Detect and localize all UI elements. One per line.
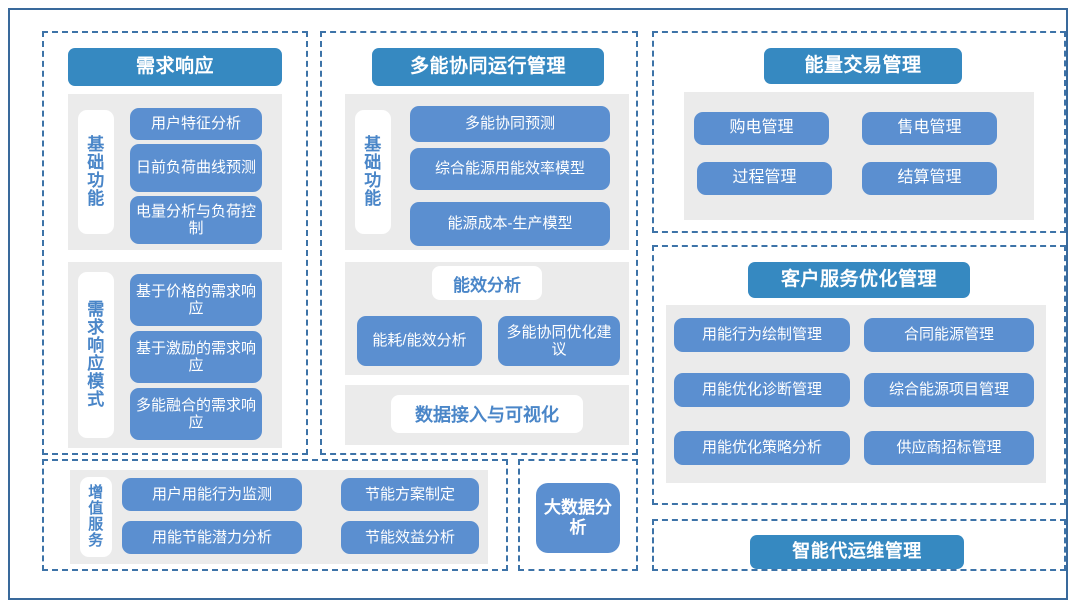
item-incentive-based-dr[interactable]: 基于激励的需求响应 [130,331,262,383]
header-intelligent-om-management[interactable]: 智能代运维管理 [750,535,964,569]
item-energy-optimization-diagnosis-management[interactable]: 用能优化诊断管理 [674,373,850,407]
item-contract-energy-management[interactable]: 合同能源管理 [864,318,1034,352]
item-energy-behavior-mapping-management[interactable]: 用能行为绘制管理 [674,318,850,352]
item-day-ahead-load-curve-forecast[interactable]: 日前负荷曲线预测 [130,144,262,192]
header-customer-service-optimization[interactable]: 客户服务优化管理 [748,262,970,298]
item-price-based-dr[interactable]: 基于价格的需求响应 [130,274,262,326]
header-energy-trading-management[interactable]: 能量交易管理 [764,48,962,84]
label-text: 基础功能 [364,136,383,208]
chip-data-access-visualization: 数据接入与可视化 [391,395,583,433]
item-energy-saving-plan-formulation[interactable]: 节能方案制定 [341,478,479,511]
item-power-sales-management[interactable]: 售电管理 [862,112,997,145]
label-text: 需求响应模式 [87,301,106,409]
item-settlement-management[interactable]: 结算管理 [862,162,997,195]
item-big-data-analysis[interactable]: 大数据分析 [536,483,620,553]
item-label: 大数据分析 [540,498,616,537]
label-left-dr-modes: 需求响应模式 [78,272,114,438]
item-energy-saving-potential-analysis[interactable]: 用能节能潜力分析 [122,521,302,554]
item-power-purchase-management[interactable]: 购电管理 [694,112,829,145]
item-power-analysis-load-control[interactable]: 电量分析与负荷控制 [130,196,262,244]
label-text: 增值服务 [88,485,105,549]
header-demand-response[interactable]: 需求响应 [68,48,282,86]
item-user-feature-analysis[interactable]: 用户特征分析 [130,108,262,140]
item-process-management[interactable]: 过程管理 [697,162,832,195]
header-multi-energy-operation[interactable]: 多能协同运行管理 [372,48,604,86]
label-middle-basic-functions: 基础功能 [355,110,391,234]
label-text: 基础功能 [87,136,106,208]
item-integrated-energy-efficiency-model[interactable]: 综合能源用能效率模型 [410,148,610,190]
item-energy-cost-production-model[interactable]: 能源成本-生产模型 [410,202,610,246]
item-multi-energy-fusion-dr[interactable]: 多能融合的需求响应 [130,388,262,440]
item-energy-saving-benefit-analysis[interactable]: 节能效益分析 [341,521,479,554]
item-energy-optimization-strategy-analysis[interactable]: 用能优化策略分析 [674,431,850,465]
chip-energy-efficiency-analysis: 能效分析 [432,266,542,300]
item-multi-energy-optimization-suggestion[interactable]: 多能协同优化建议 [498,316,620,366]
label-value-added-services: 增值服务 [80,477,112,557]
item-multi-energy-collab-forecast[interactable]: 多能协同预测 [410,106,610,142]
architecture-diagram: 需求响应 基础功能 用户特征分析 日前负荷曲线预测 电量分析与负荷控制 需求响应… [0,0,1076,608]
item-user-energy-behavior-monitoring[interactable]: 用户用能行为监测 [122,478,302,511]
item-supplier-bidding-management[interactable]: 供应商招标管理 [864,431,1034,465]
item-integrated-energy-project-management[interactable]: 综合能源项目管理 [864,373,1034,407]
label-left-basic-functions: 基础功能 [78,110,114,234]
item-energy-consumption-efficiency-analysis[interactable]: 能耗/能效分析 [357,316,482,366]
